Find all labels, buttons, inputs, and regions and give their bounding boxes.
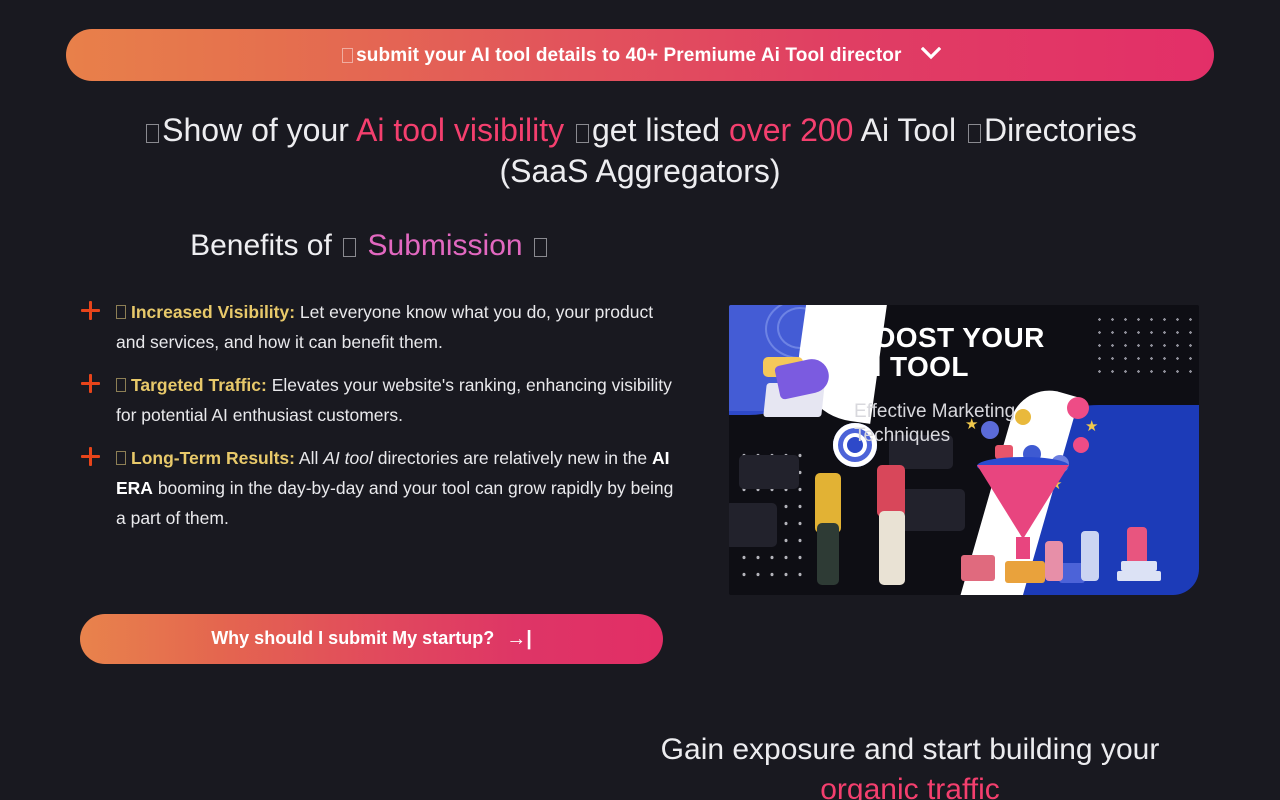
cta-label: Why should I submit My startup? bbox=[211, 628, 494, 648]
illustration-subtitle-line2: Techniques bbox=[854, 425, 950, 446]
star-icon: ★ bbox=[1085, 417, 1098, 435]
hero-text-4: Directories bbox=[984, 112, 1137, 148]
illustration-title-line2: AI TOOL bbox=[853, 351, 969, 382]
marketing-funnel-icon bbox=[977, 465, 1069, 539]
list-item-label: Targeted Traffic: bbox=[131, 375, 267, 395]
why-submit-button[interactable]: Why should I submit My startup?→| bbox=[80, 614, 663, 664]
ring-icon bbox=[1067, 397, 1089, 419]
missing-glyph-icon bbox=[342, 48, 353, 63]
missing-glyph-icon bbox=[968, 124, 981, 143]
list-item-body-c: booming in the day-by-day and your tool … bbox=[116, 478, 673, 528]
chart-panel bbox=[899, 489, 965, 531]
banner-text: submit your AI tool details to 40+ Premi… bbox=[356, 45, 901, 66]
missing-glyph-icon bbox=[146, 124, 159, 143]
hero-highlight-over200: over 200 bbox=[729, 112, 854, 148]
missing-glyph-icon bbox=[576, 124, 589, 143]
list-item-body-a: All bbox=[295, 448, 323, 468]
benefits-list: Increased Visibility: Let everyone know … bbox=[80, 297, 680, 546]
hero-heading: Show of your Ai tool visibility get list… bbox=[90, 110, 1190, 192]
list-item: Increased Visibility: Let everyone know … bbox=[80, 297, 680, 357]
illustration-title: BOOST YOUR AI TOOL bbox=[853, 323, 1045, 381]
landing-page: submit your AI tool details to 40+ Premi… bbox=[0, 0, 1280, 800]
coin-icon bbox=[1015, 409, 1031, 425]
missing-glyph-icon bbox=[116, 305, 126, 319]
benefits-heading-highlight: Submission bbox=[368, 229, 523, 262]
hero-text-2: get listed bbox=[592, 112, 729, 148]
gift-box bbox=[961, 555, 995, 581]
list-item-text: Long-Term Results: All AI tool directori… bbox=[116, 443, 680, 533]
cta-label-wrap: Why should I submit My startup?→| bbox=[211, 628, 532, 651]
chart-panel bbox=[739, 455, 799, 489]
submit-tool-banner[interactable]: submit your AI tool details to 40+ Premi… bbox=[66, 29, 1214, 81]
illustration-subtitle-line1: Effective Marketing bbox=[854, 401, 1015, 422]
person-figure bbox=[1081, 531, 1099, 581]
benefits-heading-prefix: Benefits of bbox=[190, 229, 340, 262]
arrow-right-to-bar-icon: →| bbox=[506, 628, 532, 651]
hero-text-3: Ai Tool bbox=[853, 112, 964, 148]
person-figure bbox=[817, 523, 839, 585]
missing-glyph-icon bbox=[116, 451, 126, 465]
illustration-subtitle: Effective Marketing Techniques bbox=[854, 400, 1015, 448]
list-item-label: Increased Visibility: bbox=[131, 302, 295, 322]
banner-label: submit your AI tool details to 40+ Premi… bbox=[339, 44, 941, 67]
illustration-title-line1: BOOST YOUR bbox=[853, 322, 1045, 353]
benefits-heading: Benefits of Submission bbox=[90, 226, 650, 266]
list-item-label: Long-Term Results: bbox=[131, 448, 295, 468]
hero-subline: (SaaS Aggregators) bbox=[499, 153, 780, 189]
boost-ai-tool-illustration: ★ ★ ★ BOOST YOUR AI TOOL Effective Marke… bbox=[729, 305, 1199, 595]
missing-glyph-icon bbox=[116, 378, 126, 392]
list-item-text: Targeted Traffic: Elevates your website'… bbox=[116, 370, 680, 430]
missing-glyph-icon bbox=[343, 238, 356, 257]
dot-grid bbox=[1093, 313, 1193, 377]
podium-step bbox=[1121, 561, 1157, 571]
bottom-heading: Gain exposure and start building your or… bbox=[620, 730, 1200, 800]
heart-icon bbox=[1073, 437, 1089, 453]
chart-panel bbox=[729, 503, 777, 547]
search-icon bbox=[1047, 421, 1063, 437]
podium-step bbox=[1117, 571, 1161, 581]
gift-box bbox=[1005, 561, 1045, 583]
list-item: Targeted Traffic: Elevates your website'… bbox=[80, 370, 680, 430]
list-item-body-b: directories are relatively new in the bbox=[373, 448, 652, 468]
bottom-heading-highlight: organic traffic bbox=[820, 773, 1000, 800]
plus-icon bbox=[81, 447, 101, 467]
person-figure bbox=[1045, 541, 1063, 581]
plus-icon bbox=[81, 374, 101, 394]
missing-glyph-icon bbox=[534, 238, 547, 257]
hero-highlight-visibility: Ai tool visibility bbox=[356, 112, 564, 148]
plus-icon bbox=[81, 301, 101, 321]
list-item-text: Increased Visibility: Let everyone know … bbox=[116, 297, 680, 357]
list-item-emphasis: AI tool bbox=[323, 448, 373, 468]
funnel-stem bbox=[1016, 537, 1030, 559]
bottom-heading-line1: Gain exposure and start building your bbox=[661, 733, 1160, 766]
person-figure bbox=[877, 465, 905, 517]
hero-text-1: Show of your bbox=[162, 112, 356, 148]
chevron-down-icon[interactable] bbox=[921, 44, 941, 66]
list-item: Long-Term Results: All AI tool directori… bbox=[80, 443, 680, 533]
person-figure bbox=[879, 511, 905, 585]
